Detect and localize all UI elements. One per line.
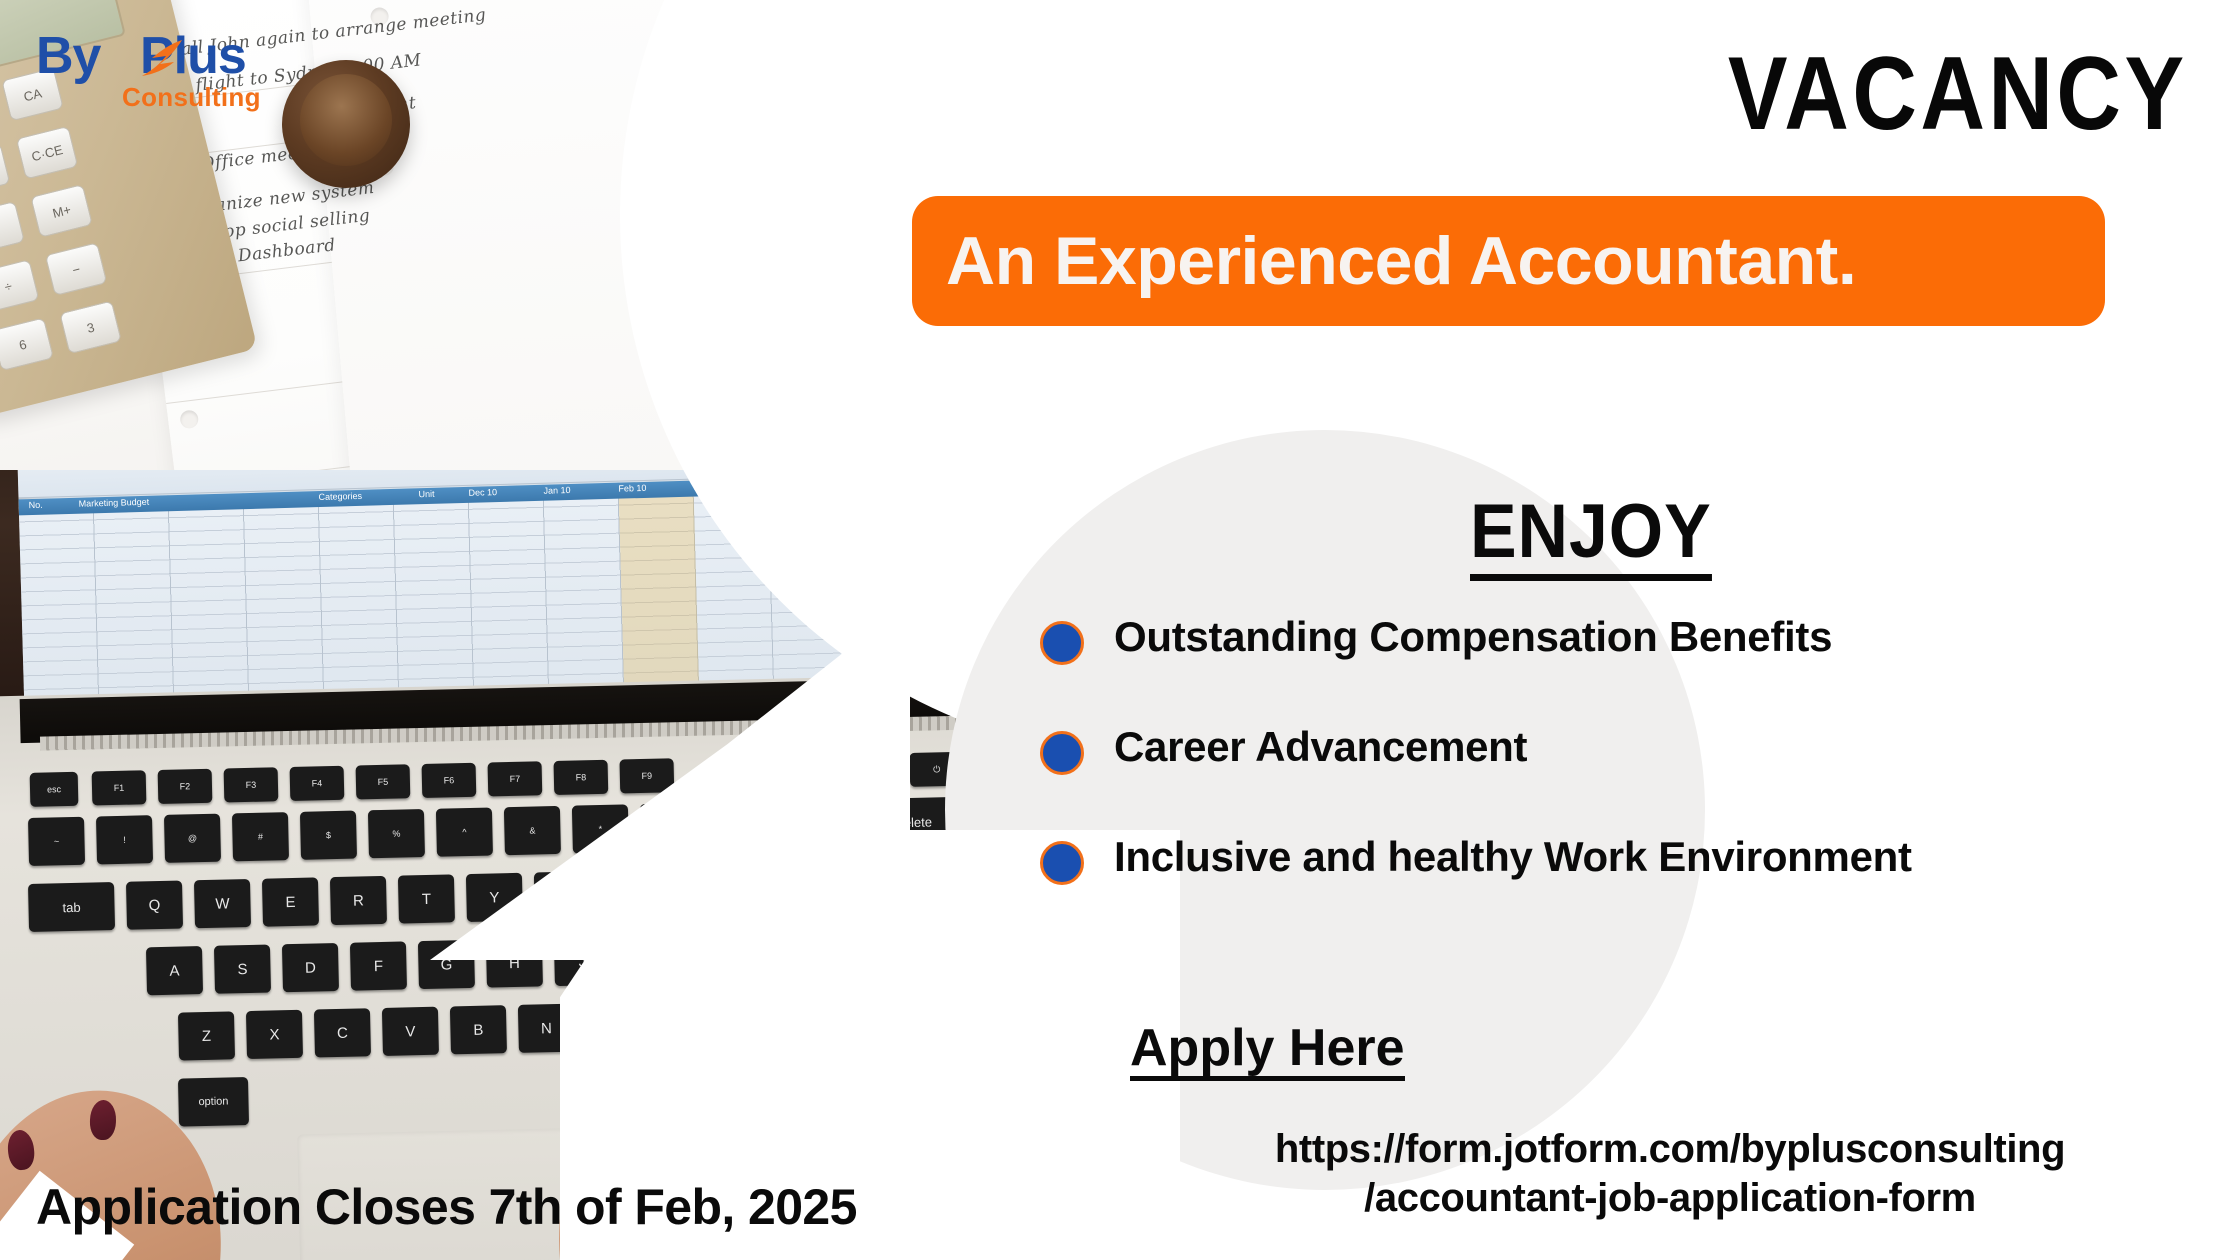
bullet-dot-icon (1040, 841, 1084, 885)
bullet-dot-icon (1040, 621, 1084, 665)
key-tab: tab (28, 882, 115, 932)
key-4: $ (300, 811, 357, 860)
key-z: Z (178, 1011, 235, 1060)
bullet-dot-icon (1040, 731, 1084, 775)
job-title-banner: An Experienced Accountant. (912, 196, 2105, 326)
logo-text-consulting: Consulting (122, 84, 261, 110)
spreadsheet-header-2: Categories (318, 491, 362, 502)
spreadsheet-header-1: Marketing Budget (79, 497, 150, 509)
spreadsheet-header-5: Jan 10 (543, 485, 570, 496)
calculator-key-minus: − (45, 242, 108, 296)
benefit-label-1: Outstanding Compensation Benefits (1084, 615, 1832, 659)
key-c: C (314, 1008, 371, 1057)
page-title: VACANCY (1728, 42, 2188, 146)
key-tilde: ~ (28, 817, 85, 866)
key-1: ! (96, 815, 153, 864)
nail-2 (89, 1100, 116, 1141)
key-f3: F3 (224, 767, 279, 802)
key-f1: F1 (92, 770, 147, 805)
key-f5: F5 (356, 764, 411, 799)
application-deadline: Application Closes 7th of Feb, 2025 (36, 1178, 857, 1236)
wooden-bowl (282, 60, 410, 188)
calculator-key-pm: +/− (0, 143, 10, 197)
spreadsheet-header-6: Feb 10 (618, 483, 646, 494)
logo-swoosh-icon (136, 36, 188, 82)
spreadsheet-header-3: Unit (418, 489, 434, 499)
key-esc: esc (30, 772, 79, 807)
spreadsheet-header-0: No. (29, 500, 43, 510)
key-5: % (368, 809, 425, 858)
application-url[interactable]: https://form.jotform.com/byplusconsultin… (1150, 1125, 2190, 1223)
key-f9: F9 (619, 758, 674, 793)
key-b: B (450, 1005, 507, 1054)
key-s: S (214, 945, 271, 994)
benefits-list: Outstanding Compensation Benefits Career… (1040, 615, 2220, 945)
key-x: X (246, 1010, 303, 1059)
calculator-key-6: 6 (0, 317, 54, 371)
company-logo: By Plus Consulting (36, 30, 286, 120)
key-d: D (282, 943, 339, 992)
benefit-label-3: Inclusive and healthy Work Environment (1084, 835, 1912, 879)
spreadsheet-header-4: Dec 10 (468, 487, 497, 498)
key-q: Q (126, 881, 183, 930)
calculator-key-divide: ÷ (0, 259, 39, 313)
list-item: Outstanding Compensation Benefits (1040, 615, 2220, 725)
key-f6: F6 (422, 763, 477, 798)
key-f2: F2 (158, 769, 213, 804)
key-7: & (504, 806, 561, 855)
key-a: A (146, 946, 203, 995)
benefit-label-2: Career Advancement (1084, 725, 1527, 769)
benefits-heading: ENJOY (1470, 494, 1712, 581)
application-url-line-1[interactable]: https://form.jotform.com/byplusconsultin… (1150, 1125, 2190, 1174)
key-f4: F4 (290, 766, 345, 801)
key-3: # (232, 812, 289, 861)
logo-text-by: By (36, 30, 100, 82)
key-6: ^ (436, 807, 493, 856)
key-f: F (350, 941, 407, 990)
key-e: E (262, 877, 319, 926)
calculator-key-cce: C·CE (16, 126, 79, 180)
key-2: @ (164, 814, 221, 863)
key-w: W (194, 879, 251, 928)
key-option: option (178, 1077, 249, 1127)
key-f8: F8 (554, 760, 609, 795)
apply-heading: Apply Here (1130, 1022, 1405, 1081)
vacancy-poster: Tue Wed * Call John again to arrange mee… (0, 0, 2240, 1260)
calculator-key-mplus: M+ (30, 184, 93, 238)
list-item: Inclusive and healthy Work Environment (1040, 835, 2220, 945)
list-item: Career Advancement (1040, 725, 2220, 835)
spreadsheet-selected-column (618, 481, 699, 687)
key-v: V (382, 1007, 439, 1056)
key-r: R (330, 876, 387, 925)
calculator-key-3: 3 (59, 300, 122, 354)
key-t: T (398, 874, 455, 923)
job-title-text: An Experienced Accountant. (912, 222, 1856, 300)
calculator-key-pct: % (0, 201, 25, 255)
key-f7: F7 (488, 761, 543, 796)
application-url-line-2[interactable]: /accountant-job-application-form (1150, 1174, 2190, 1223)
